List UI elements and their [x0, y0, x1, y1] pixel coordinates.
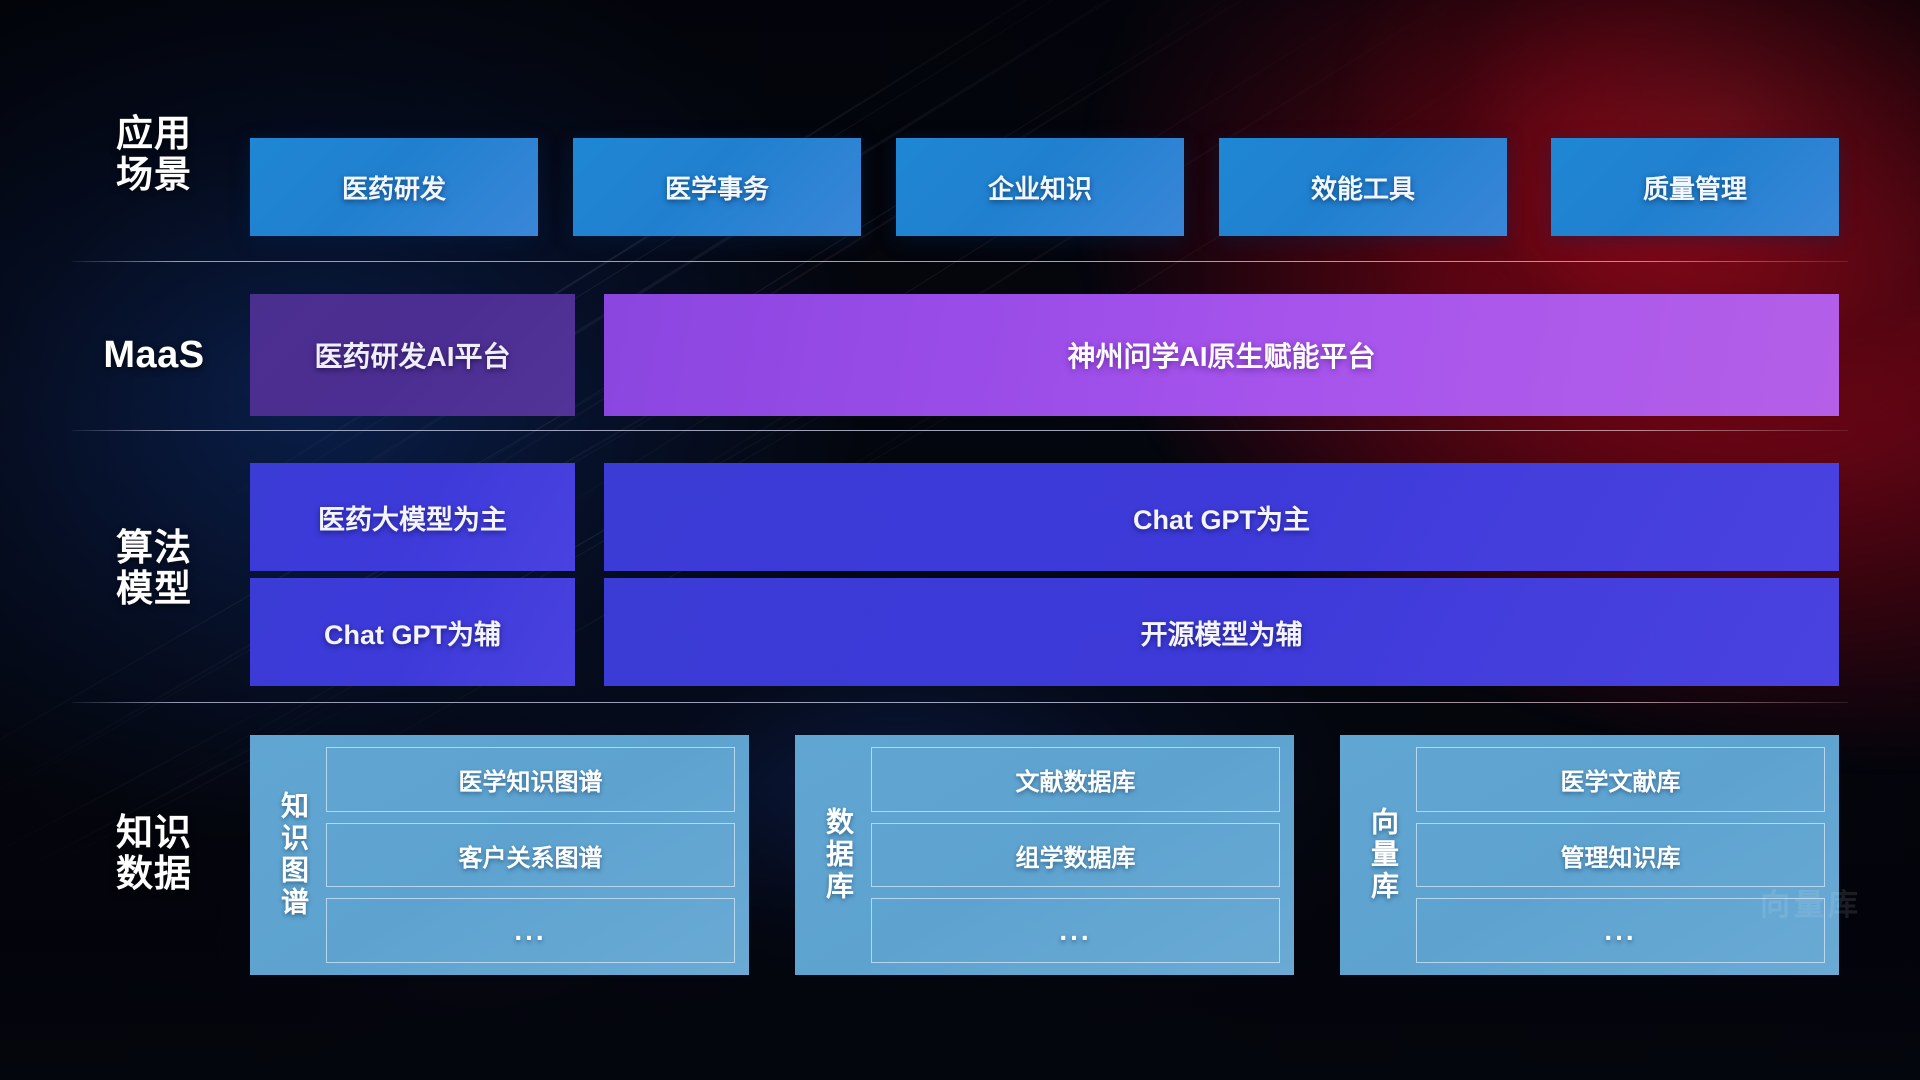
- knowledge-block-vector-store: 向量库 医学文献库 管理知识库 ...: [1340, 735, 1839, 975]
- application-box-1[interactable]: 医药研发: [250, 138, 538, 236]
- row-label-application: 应用 场景: [86, 113, 222, 196]
- row-label-algorithm-line2: 模型: [86, 568, 222, 609]
- knowledge-item-1-2[interactable]: 客户关系图谱: [326, 823, 735, 888]
- algorithm-box-right-2[interactable]: 开源模型为辅: [604, 578, 1839, 686]
- knowledge-item-3-3[interactable]: ...: [1416, 898, 1825, 963]
- knowledge-block-1-items: 医学知识图谱 客户关系图谱 ...: [326, 747, 735, 963]
- algorithm-box-right-1[interactable]: Chat GPT为主: [604, 463, 1839, 571]
- row-label-application-line1: 应用: [86, 113, 222, 154]
- knowledge-block-1-side-label: 知识图谱: [260, 747, 326, 963]
- knowledge-block-2-items: 文献数据库 组学数据库 ...: [871, 747, 1280, 963]
- architecture-diagram: 应用 场景 MaaS 算法 模型 知识 数据 医药研发 医学事务 企业知识 效能…: [0, 0, 1920, 1080]
- application-box-3[interactable]: 企业知识: [896, 138, 1184, 236]
- knowledge-block-3-side-label: 向量库: [1350, 747, 1416, 963]
- row-label-knowledge: 知识 数据: [86, 812, 222, 895]
- knowledge-item-2-2[interactable]: 组学数据库: [871, 823, 1280, 888]
- application-box-5[interactable]: 质量管理: [1551, 138, 1839, 236]
- algorithm-box-left-2[interactable]: Chat GPT为辅: [250, 578, 575, 686]
- knowledge-item-2-3[interactable]: ...: [871, 898, 1280, 963]
- divider-application-maas: [72, 261, 1848, 262]
- knowledge-block-database: 数据库 文献数据库 组学数据库 ...: [795, 735, 1294, 975]
- divider-algorithm-knowledge: [72, 702, 1848, 703]
- divider-maas-algorithm: [72, 430, 1848, 431]
- maas-box-shenzhou-wenxue-platform[interactable]: 神州问学AI原生赋能平台: [604, 294, 1839, 416]
- row-label-algorithm: 算法 模型: [86, 527, 222, 610]
- application-box-2[interactable]: 医学事务: [573, 138, 861, 236]
- row-label-maas: MaaS: [86, 334, 222, 377]
- knowledge-block-knowledge-graph: 知识图谱 医学知识图谱 客户关系图谱 ...: [250, 735, 749, 975]
- knowledge-block-2-side-label: 数据库: [805, 747, 871, 963]
- row-label-algorithm-line1: 算法: [86, 527, 222, 568]
- row-label-knowledge-line2: 数据: [86, 853, 222, 894]
- knowledge-item-1-1[interactable]: 医学知识图谱: [326, 747, 735, 812]
- maas-box-pharma-ai-platform[interactable]: 医药研发AI平台: [250, 294, 575, 416]
- knowledge-item-2-1[interactable]: 文献数据库: [871, 747, 1280, 812]
- knowledge-item-3-2[interactable]: 管理知识库: [1416, 823, 1825, 888]
- knowledge-item-1-3[interactable]: ...: [326, 898, 735, 963]
- algorithm-box-left-1[interactable]: 医药大模型为主: [250, 463, 575, 571]
- knowledge-block-3-items: 医学文献库 管理知识库 ...: [1416, 747, 1825, 963]
- row-label-application-line2: 场景: [86, 154, 222, 195]
- knowledge-item-3-1[interactable]: 医学文献库: [1416, 747, 1825, 812]
- application-box-4[interactable]: 效能工具: [1219, 138, 1507, 236]
- row-label-knowledge-line1: 知识: [86, 812, 222, 853]
